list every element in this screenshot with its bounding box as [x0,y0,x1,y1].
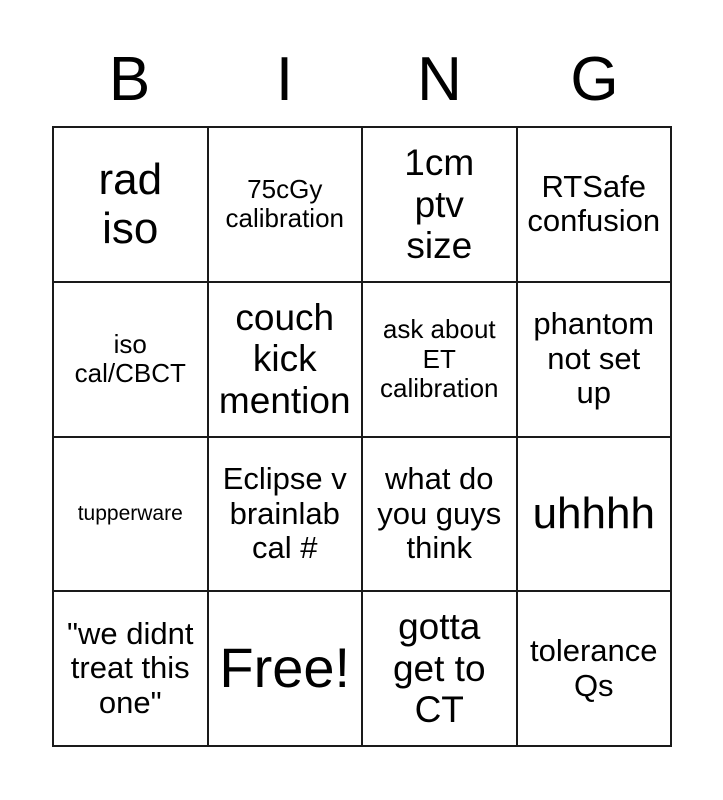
bingo-cell-free-space[interactable]: Free! [209,592,364,747]
bingo-cell-r3c4[interactable]: uhhhh [518,438,673,593]
header-letter-b: B [52,40,207,120]
bingo-cell-text: what do you guys think [367,462,512,566]
bingo-cell-text: Free! [213,637,358,700]
bingo-cell-r2c4[interactable]: phantom not set up [518,283,673,438]
bingo-cell-text: uhhhh [522,489,667,538]
bingo-cell-r4c1[interactable]: "we didnt treat this one" [54,592,209,747]
bingo-cell-text: "we didnt treat this one" [58,617,203,721]
bingo-cell-text: ask about ET calibration [367,315,512,402]
header-letter-i: I [207,40,362,120]
bingo-cell-text: 75cGy calibration [213,175,358,233]
bingo-header-row: B I N G [52,40,672,120]
bingo-cell-r2c3[interactable]: ask about ET calibration [363,283,518,438]
header-letter-g: G [517,40,672,120]
bingo-cell-text: phantom not set up [522,307,667,411]
bingo-cell-r2c1[interactable]: iso cal/CBCT [54,283,209,438]
bingo-cell-r3c2[interactable]: Eclipse v brainlab cal # [209,438,364,593]
bingo-cell-text: Eclipse v brainlab cal # [213,462,358,566]
header-letter-n: N [362,40,517,120]
bingo-cell-r1c3[interactable]: 1cm ptv size [363,128,518,283]
bingo-cell-text: tolerance Qs [522,634,667,703]
bingo-cell-r2c2[interactable]: couch kick mention [209,283,364,438]
bingo-cell-text: rad iso [58,155,203,254]
bingo-cell-text: iso cal/CBCT [58,330,203,388]
bingo-cell-r1c4[interactable]: RTSafe confusion [518,128,673,283]
bingo-card: B I N G rad iso 75cGy calibration 1cm pt… [0,0,723,800]
bingo-cell-text: gotta get to CT [367,606,512,730]
bingo-cell-text: tupperware [58,502,203,526]
bingo-cell-r4c3[interactable]: gotta get to CT [363,592,518,747]
bingo-cell-r3c1[interactable]: tupperware [54,438,209,593]
bingo-cell-r4c4[interactable]: tolerance Qs [518,592,673,747]
bingo-cell-text: couch kick mention [213,297,358,421]
bingo-cell-text: 1cm ptv size [367,142,512,266]
bingo-cell-r3c3[interactable]: what do you guys think [363,438,518,593]
bingo-cell-r1c1[interactable]: rad iso [54,128,209,283]
bingo-cell-text: RTSafe confusion [522,170,667,239]
bingo-cell-r1c2[interactable]: 75cGy calibration [209,128,364,283]
bingo-grid: rad iso 75cGy calibration 1cm ptv size R… [52,126,672,747]
